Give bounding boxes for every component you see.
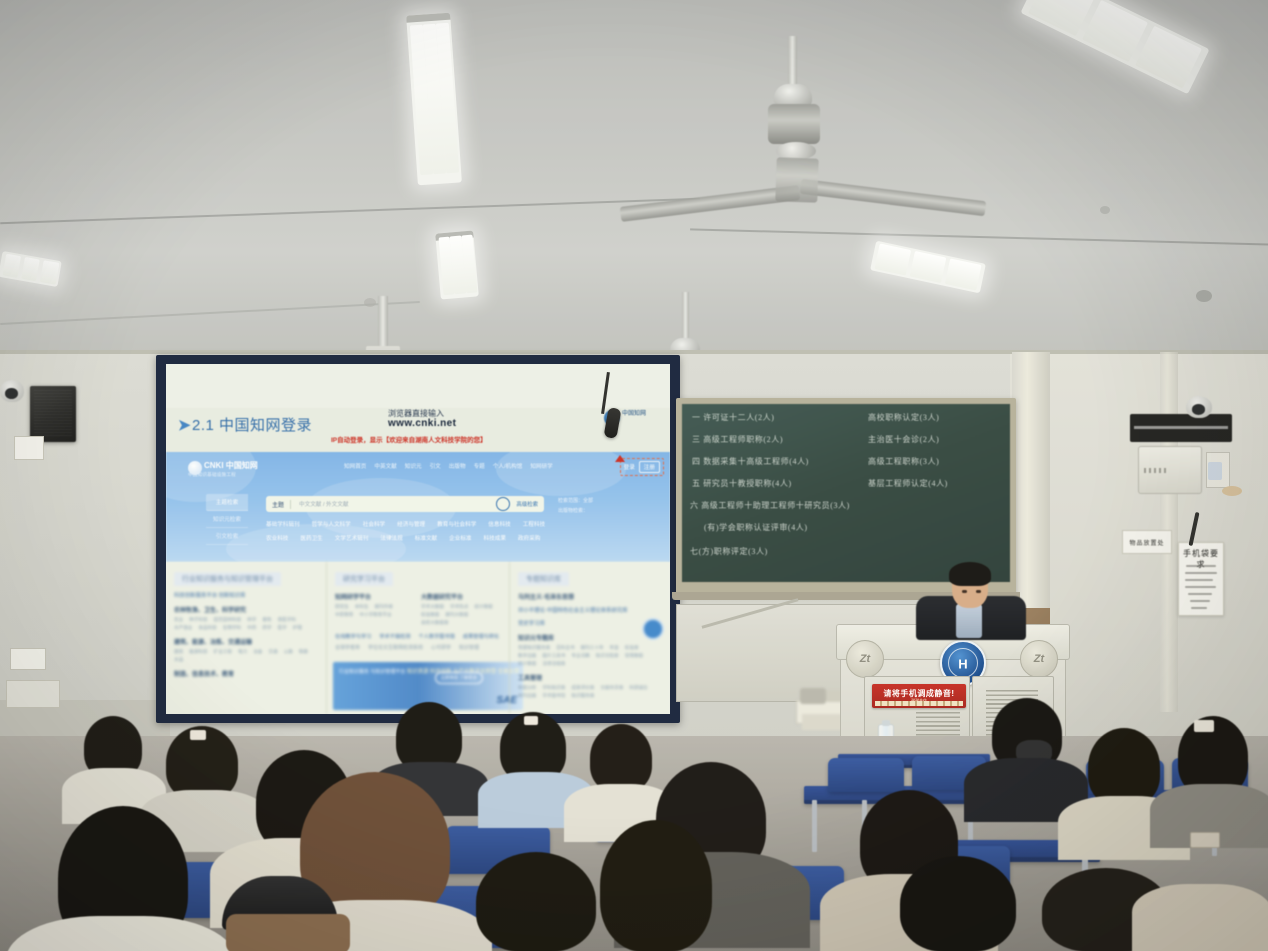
cnki-tab-knowledge[interactable]: 知识元检索 xyxy=(206,511,248,528)
group-item[interactable]: 医学 xyxy=(278,625,287,631)
slide-annotation-note: IP自动登录，显示【欢迎来自湖南人文科技学院的您】 xyxy=(331,434,487,444)
hair-clip xyxy=(1194,720,1214,732)
group-item[interactable]: 文献共享库 xyxy=(600,685,623,691)
cnki-category-links: 基础学科辑刊 哲学与人文科学 社会科学 经济与管理 教育与社会科学 信息科技 工… xyxy=(266,520,556,542)
column-link[interactable]: 心可研学 xyxy=(431,644,451,651)
cnki-nav: 知网首页 中英文献 知识元 引文 出版物 专题 个人/机构馆 知网研学 xyxy=(344,462,553,470)
hair-clip xyxy=(190,730,206,740)
group-item[interactable]: 药学 xyxy=(262,625,271,631)
group-item[interactable]: 兽医学科 xyxy=(278,617,296,623)
cnki-category[interactable]: 信息科技 xyxy=(488,520,510,528)
medal-text: Zt xyxy=(860,653,870,665)
cnki-category[interactable]: 法律法规 xyxy=(380,534,402,542)
hair-clip xyxy=(524,716,538,725)
cnki-nav-item[interactable]: 个人/机构馆 xyxy=(493,462,523,470)
group-item[interactable]: 本科生 xyxy=(355,604,369,610)
group-title: 马列主义·毛泽东思想 xyxy=(518,592,662,601)
ceiling-sprinkler xyxy=(1100,206,1110,214)
group-item[interactable]: 矿业工程 xyxy=(214,649,232,655)
group-item[interactable]: 知识服务库 xyxy=(571,693,594,699)
group-item[interactable]: 公路 xyxy=(284,649,293,655)
ceiling xyxy=(0,0,1268,360)
presentation-slide: ➤ 2.1 中国知网登录 浏览器直接输入 www.cnki.net IP自动登录… xyxy=(166,364,670,714)
presenter-shirt xyxy=(956,604,982,638)
column-header: 研究学习平台 xyxy=(335,572,393,586)
column-link[interactable]: 党史学习库 xyxy=(518,619,662,627)
silence-phone-sign: 请将手机调成静音! 谢谢合作 xyxy=(872,684,966,708)
group-item[interactable]: 电力 xyxy=(238,649,247,655)
wall-panel xyxy=(6,680,60,708)
cnki-logo-label: CNKI 中国知网 xyxy=(204,460,258,471)
group-item[interactable]: 食品科技 xyxy=(198,625,216,631)
cnki-nav-item[interactable]: 中英文献 xyxy=(374,462,396,470)
chair xyxy=(828,758,904,792)
cnki-tab-topic[interactable]: 主题检索 xyxy=(206,494,248,511)
group-item[interactable]: 生物学科 xyxy=(223,625,241,631)
column-header: 专题知识库 xyxy=(518,572,569,586)
lectern-medal-right: Zt xyxy=(1020,640,1058,678)
cnki-category[interactable]: 农业科技 xyxy=(266,534,288,542)
group-item[interactable]: 成果评价库 xyxy=(571,685,594,691)
slide-chevron-icon: ➤ xyxy=(178,416,191,434)
group-item[interactable]: 水运 xyxy=(174,657,183,663)
group-item[interactable]: 统计数据 xyxy=(518,661,536,667)
projection-screen: ➤ 2.1 中国知网登录 浏览器直接输入 www.cnki.net IP自动登录… xyxy=(166,364,670,714)
blackboard-line: 三 高级工程师职称(2人) xyxy=(692,434,783,445)
wall-plate xyxy=(14,436,44,460)
blackboard-line: 基层工程师认定(4人) xyxy=(868,478,948,489)
group-item[interactable]: 中小学教育平台 xyxy=(359,612,391,618)
cnki-category[interactable]: 社会科学 xyxy=(363,520,385,528)
cnki-login-button[interactable]: 登录 xyxy=(624,463,635,471)
cnki-auth-highlight: 登录 注册 xyxy=(620,458,664,476)
silence-sign-strip xyxy=(875,701,963,706)
cable-coil xyxy=(1222,486,1242,496)
cnki-category[interactable]: 医药卫生 xyxy=(300,534,322,542)
column-link[interactable]: 学位论文互联网检测系统 xyxy=(368,644,423,651)
column-links-row-2: 全球学者库 学位论文互联网检测系统 心可研学 知识管理 xyxy=(335,644,501,651)
presenter-hair xyxy=(949,562,991,586)
group-item[interactable]: 专业词典 xyxy=(571,653,589,659)
wall-speaker-right xyxy=(1130,414,1232,442)
group-item[interactable]: 畜牧 xyxy=(262,617,271,623)
slide-subtitle-url: www.cnki.net xyxy=(388,418,456,429)
av-control-box[interactable] xyxy=(1138,446,1202,494)
blackboard-line: 七(方)职称评定(3人) xyxy=(690,546,768,557)
slide-logo-text: 中国知网 xyxy=(622,410,646,419)
group-title: 工具管理 xyxy=(518,673,662,682)
ceiling-sprinkler xyxy=(1196,290,1212,302)
blackboard-line: 高级工程职称(3人) xyxy=(868,456,939,467)
device-screen xyxy=(1190,832,1220,848)
ceiling-sprinkler xyxy=(364,298,376,307)
cnki-nav-item[interactable]: 出版物 xyxy=(449,462,466,470)
medal-text: Zt xyxy=(1034,653,1044,665)
cnki-category[interactable]: 企业标准 xyxy=(449,534,471,542)
group-items: 党建知识服务库 百科全书 期刊三十年 年鉴 标准库 数字出版 图片工具书 专业词… xyxy=(518,645,662,667)
group-item[interactable]: 标准数据 xyxy=(421,612,439,618)
group-item[interactable]: 护理 xyxy=(293,625,302,631)
cnki-category[interactable]: 标准文献 xyxy=(415,534,437,542)
group-item[interactable]: 交通 xyxy=(268,649,277,655)
student-head xyxy=(1088,728,1160,806)
cnki-site-logo[interactable]: CNKI 中国知网 中国知识基础设施工程 xyxy=(188,460,268,482)
wall-speaker-left xyxy=(30,386,76,442)
presenter-eye xyxy=(962,590,967,593)
group-item[interactable]: 标准库 xyxy=(625,645,639,651)
blackboard: 一 许可证十二人(2人) 高校职称认定(3人) 三 高级工程师职称(2人) 主治… xyxy=(682,404,1010,582)
group-item[interactable]: 学术图书馆 xyxy=(542,693,565,699)
group-item[interactable]: 图片工具书 xyxy=(542,653,565,659)
group-title: 制造、信息技术、教育 xyxy=(174,669,318,678)
student-head xyxy=(600,820,712,951)
cnki-nav-item[interactable]: 知网首页 xyxy=(344,462,366,470)
cnki-register-button[interactable]: 注册 xyxy=(639,461,660,473)
emblem-glyph: H xyxy=(958,656,967,671)
group-item[interactable]: 冶金 xyxy=(253,649,262,655)
cnki-search-bar[interactable]: 主题 中文文献 / 外文文献 高级检索 xyxy=(266,496,544,512)
cnki-logo-sublabel: 中国知识基础设施工程 xyxy=(188,472,236,478)
cnki-nav-item[interactable]: 知识元 xyxy=(405,462,422,470)
column-link[interactable]: 知识管理 xyxy=(459,644,479,651)
column-link[interactable]: 个人数字图书馆 xyxy=(418,633,454,640)
blackboard-line: 六 高级工程师十助理工程师十研究员(3人) xyxy=(690,500,850,511)
student-head xyxy=(590,724,652,792)
cnki-search-tabs: 主题检索 知识元检索 引文检索 xyxy=(206,494,248,545)
group-item[interactable]: 期刊出版 xyxy=(518,693,536,699)
platform-column-topics: 专题知识库 马列主义·毛泽东思想 邓小平理论·中国特色社会主义理论体系研究库 党… xyxy=(509,562,670,714)
group-item[interactable]: 科研诚信 xyxy=(629,685,647,691)
magnifier-icon[interactable] xyxy=(496,497,510,511)
group-item[interactable]: 种子科技 xyxy=(189,617,207,623)
intercom[interactable] xyxy=(1208,462,1222,480)
group-items: 建筑 能源科技 矿业工程 电力 冶金 交通 公路 铁路 水运 xyxy=(174,649,318,663)
group-title: 知网研学平台 xyxy=(335,592,407,601)
blackboard-line: 五 研究员十教授职称(4人) xyxy=(692,478,792,489)
banner-left-text: 行业知识服务 与知识管理平台 xyxy=(339,668,405,676)
group-item[interactable]: 期刊大数据 xyxy=(445,612,468,618)
classroom-photo-scene: 物品放置处 手机袋要求 ➤ 2.1 中国知网登录 浏览器直接输入 www.cnk… xyxy=(0,0,1268,951)
column-header: 行业知识服务与知识管理平台 xyxy=(174,572,281,586)
group-item[interactable]: 中职教育 xyxy=(335,612,353,618)
slide-title: 2.1 中国知网登录 xyxy=(192,414,312,435)
cnki-nav-item[interactable]: 知网研学 xyxy=(530,462,552,470)
column-link[interactable]: 邓小平理论·中国特色社会主义理论体系研究库 xyxy=(518,606,662,614)
group-item[interactable]: 年鉴 xyxy=(610,645,619,651)
lectern-medal-left: Zt xyxy=(846,640,884,678)
cnki-nav-item[interactable]: 引文 xyxy=(430,462,441,470)
column-link[interactable]: 学术不端检测 xyxy=(379,633,410,640)
cnki-nav-item[interactable]: 专题 xyxy=(474,462,485,470)
group-items: 研究生 本科生 期刊作者 中职教育 中小学教育平台 xyxy=(335,604,407,618)
cnki-search-hints: 检索范围：全部 出版物检索： xyxy=(558,496,593,516)
group-item[interactable]: 常用数据 xyxy=(625,653,643,659)
group-item[interactable]: 水产渔业 xyxy=(174,625,192,631)
cnki-category[interactable]: 政府采购 xyxy=(518,534,540,542)
cnki-category[interactable]: 教育与社会科学 xyxy=(437,520,476,528)
storage-sign: 物品放置处 xyxy=(1122,530,1172,554)
column-link[interactable]: 全球学者库 xyxy=(335,644,360,651)
cnki-advanced-search-link[interactable]: 高级检索 xyxy=(516,500,538,508)
platform-column-research: 研究学习平台 知网研学平台 研究生 本科生 期刊作者 中职教育 中小学教育平台 xyxy=(326,562,509,714)
platform-column-industry: 行业知识服务与知识管理平台 科技创新服务平台 创新知识库 农林牧渔、卫生、科学研… xyxy=(166,562,326,714)
group-item[interactable]: 农业 xyxy=(174,617,183,623)
group-title: 知识元专题库 xyxy=(518,633,662,642)
blackboard-line: 高校职称认定(3人) xyxy=(868,412,939,423)
group-title: 农林牧渔、卫生、科学研究 xyxy=(174,605,318,614)
group-item[interactable]: 研究生 xyxy=(335,604,349,610)
group-items: 农业 种子科技 园艺园林科技 林学 畜牧 兽医学科 水产渔业 食品科技 生物学科… xyxy=(174,617,318,631)
group-item[interactable]: 高校大数据库 xyxy=(421,620,449,626)
handwritten-notice: 手机袋要求 xyxy=(1178,542,1224,616)
group-item[interactable]: 党建知识服务库 xyxy=(518,645,550,651)
banner-cta-button[interactable]: 立即体验 了解更多 xyxy=(435,672,483,684)
cnki-search-field-selector[interactable]: 主题 xyxy=(266,500,291,509)
group-item[interactable]: 学科知识库 xyxy=(542,685,565,691)
group-item[interactable]: 园艺园林科技 xyxy=(214,617,242,623)
column-link[interactable]: 在线教学与学习 xyxy=(335,633,371,640)
red-arrow-icon xyxy=(615,455,625,462)
next-arrow-icon[interactable] xyxy=(642,618,664,640)
group-item[interactable]: 中药 xyxy=(247,625,256,631)
cnki-search-hint-1: 检索范围：全部 xyxy=(558,496,593,506)
group-item[interactable]: 建筑 xyxy=(174,649,183,655)
blackboard-line: 一 许可证十二人(2人) xyxy=(692,412,775,423)
column-link[interactable]: 成果管理与转化 xyxy=(463,633,499,640)
cnki-search-input[interactable]: 中文文献 / 外文文献 xyxy=(291,500,496,508)
column-link[interactable]: 科技创新服务平台 创新知识库 xyxy=(174,591,318,599)
group-item[interactable]: 学术大数据 xyxy=(421,604,444,610)
group-item[interactable]: 法律法规库 xyxy=(542,661,565,667)
wall-socket xyxy=(10,648,46,670)
group-item[interactable]: 学术热点 xyxy=(450,604,468,610)
notice-title: 手机袋要求 xyxy=(1179,548,1223,570)
student-head xyxy=(226,914,350,951)
group-items: 学术大数据 学术热点 统计数据 标准数据 期刊大数据 高校大数据库 xyxy=(421,604,501,626)
security-camera xyxy=(1186,396,1212,418)
blackboard-line: (有)学会职称认证评审(4人) xyxy=(704,522,808,533)
student-shoulders xyxy=(1132,884,1268,951)
cnki-website-screenshot: CNKI 中国知网 中国知识基础设施工程 知网首页 中英文献 知识元 引文 出版… xyxy=(166,452,670,562)
cnki-tab-citation[interactable]: 引文检索 xyxy=(206,528,248,545)
column-links-row: 在线教学与学习 学术不端检测 个人数字图书馆 成果管理与转化 xyxy=(335,633,501,640)
group-item[interactable]: 知识元检索 xyxy=(596,653,619,659)
group-item[interactable]: 期刊作者 xyxy=(375,604,393,610)
cnki-platform-columns: 行业知识服务与知识管理平台 科技创新服务平台 创新知识库 农林牧渔、卫生、科学研… xyxy=(166,562,670,714)
group-title: 大数据研究平台 xyxy=(421,592,501,601)
security-camera xyxy=(0,380,24,402)
group-title: 建筑、能源、冶炼、交通运输 xyxy=(174,637,318,646)
student-head xyxy=(476,852,596,951)
group-item[interactable]: 铁路 xyxy=(299,649,308,655)
group-items: 数据分析 学科知识库 成果评价库 文献共享库 科研诚信 期刊出版 学术图书馆 知… xyxy=(518,685,662,699)
blackboard-line: 四 数据采集十高级工程师(4人) xyxy=(692,456,809,467)
presenter-eye xyxy=(976,590,981,593)
wall-trim xyxy=(0,350,1268,354)
storage-sign-label: 物品放置处 xyxy=(1123,531,1171,553)
cnki-category[interactable]: 经济与管理 xyxy=(397,520,425,528)
group-item[interactable]: 统计数据 xyxy=(474,604,492,610)
ceiling-light xyxy=(435,230,479,299)
group-item[interactable]: 能源科技 xyxy=(189,649,207,655)
blackboard-line: 主治医十会诊(2人) xyxy=(868,434,939,445)
cnki-category[interactable]: 科技成果 xyxy=(484,534,506,542)
student-head xyxy=(900,856,1016,951)
cnki-category[interactable]: 哲学与人文科学 xyxy=(312,520,351,528)
group-item[interactable]: 期刊三十年 xyxy=(581,645,604,651)
group-item[interactable]: 林学 xyxy=(247,617,256,623)
group-item[interactable]: 数字出版 xyxy=(518,653,536,659)
cnki-category[interactable]: 文学艺术辑刊 xyxy=(335,534,369,542)
cnki-category[interactable]: 工程科技 xyxy=(523,520,545,528)
group-item[interactable]: 数据分析 xyxy=(518,685,536,691)
group-item[interactable]: 百科全书 xyxy=(556,645,574,651)
cnki-search-hint-2: 出版物检索： xyxy=(558,506,593,516)
cnki-category[interactable]: 基础学科辑刊 xyxy=(266,520,300,528)
